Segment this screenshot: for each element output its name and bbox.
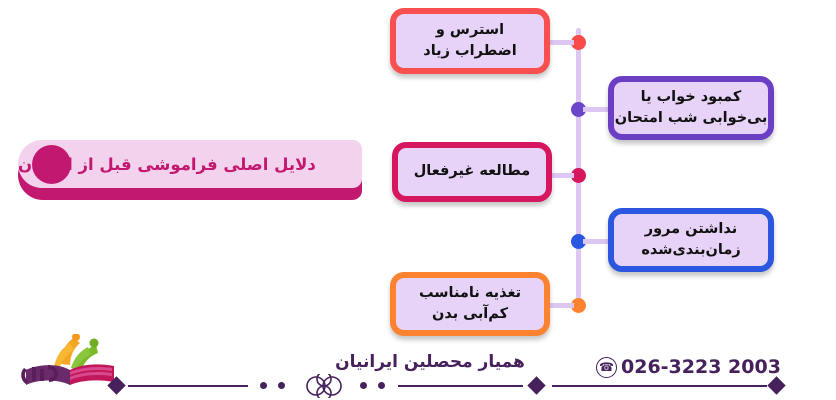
node-stress-label: استرس و اضطراب زیاد	[423, 20, 516, 62]
node-nutrition[interactable]: تغذیه نامناسب کم‌آبی بدن	[390, 272, 550, 336]
divider-dot-left-inner	[278, 382, 285, 389]
divider-diamond-left	[107, 376, 125, 394]
divider-line-middle	[398, 385, 523, 387]
divider-dot-right-outer	[378, 382, 385, 389]
node-review-label: نداشتن مرور زمان‌بندی‌شده	[641, 219, 740, 261]
divider-diamond-right	[767, 376, 785, 394]
divider-line-left	[128, 385, 248, 387]
node-study-label: مطالعه غیرفعال	[414, 161, 531, 182]
node-study[interactable]: مطالعه غیرفعال	[392, 142, 552, 202]
main-title-banner: دلایل اصلی فراموشی قبل از امتحان	[18, 140, 362, 200]
node-nutrition-label: تغذیه نامناسب کم‌آبی بدن	[419, 283, 521, 325]
node-review[interactable]: نداشتن مرور زمان‌بندی‌شده	[608, 208, 774, 272]
node-sleep[interactable]: کمبود خواب یا بی‌خوابی شب امتحان	[608, 76, 774, 140]
stub-review	[583, 239, 611, 244]
footer-brand-name: همیار محصلین ایرانیان	[300, 352, 560, 372]
node-sleep-label: کمبود خواب یا بی‌خوابی شب امتحان	[615, 87, 768, 129]
footer-divider	[110, 374, 780, 398]
divider-dot-right-inner	[360, 382, 367, 389]
stub-sleep	[583, 107, 611, 112]
page-title: دلایل اصلی فراموشی قبل از امتحان	[18, 140, 346, 188]
divider-line-right	[552, 385, 767, 387]
divider-dot-left-outer	[260, 382, 267, 389]
flower-ornament-icon	[296, 374, 352, 398]
divider-diamond-middle	[527, 376, 545, 394]
node-stress[interactable]: استرس و اضطراب زیاد	[390, 8, 550, 74]
